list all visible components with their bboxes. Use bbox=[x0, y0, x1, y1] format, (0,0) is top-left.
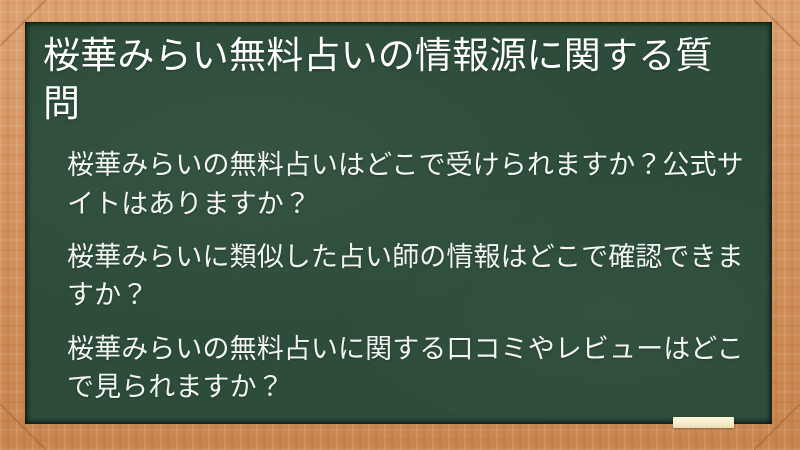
list-item: 桜華みらいに類似した占い師の情報はどこで確認できますか？ bbox=[67, 238, 744, 315]
page-title: 桜華みらい無料占いの情報源に関する質問 bbox=[34, 32, 744, 128]
list-item: 桜華みらいの無料占いに関する口コミやレビューはどこで見られますか？ bbox=[67, 330, 744, 407]
chalk-stick bbox=[673, 417, 734, 428]
question-list: 桜華みらいの無料占いはどこで受けられますか？公式サイトはありますか？ 桜華みらい… bbox=[34, 146, 744, 406]
slide-content: 桜華みらい無料占いの情報源に関する質問 桜華みらいの無料占いはどこで受けられます… bbox=[25, 22, 772, 424]
list-item: 桜華みらいの無料占いはどこで受けられますか？公式サイトはありますか？ bbox=[67, 146, 744, 223]
chalkboard-surface: 桜華みらい無料占いの情報源に関する質問 桜華みらいの無料占いはどこで受けられます… bbox=[25, 22, 772, 424]
chalkboard-slide: 桜華みらい無料占いの情報源に関する質問 桜華みらいの無料占いはどこで受けられます… bbox=[0, 0, 800, 450]
